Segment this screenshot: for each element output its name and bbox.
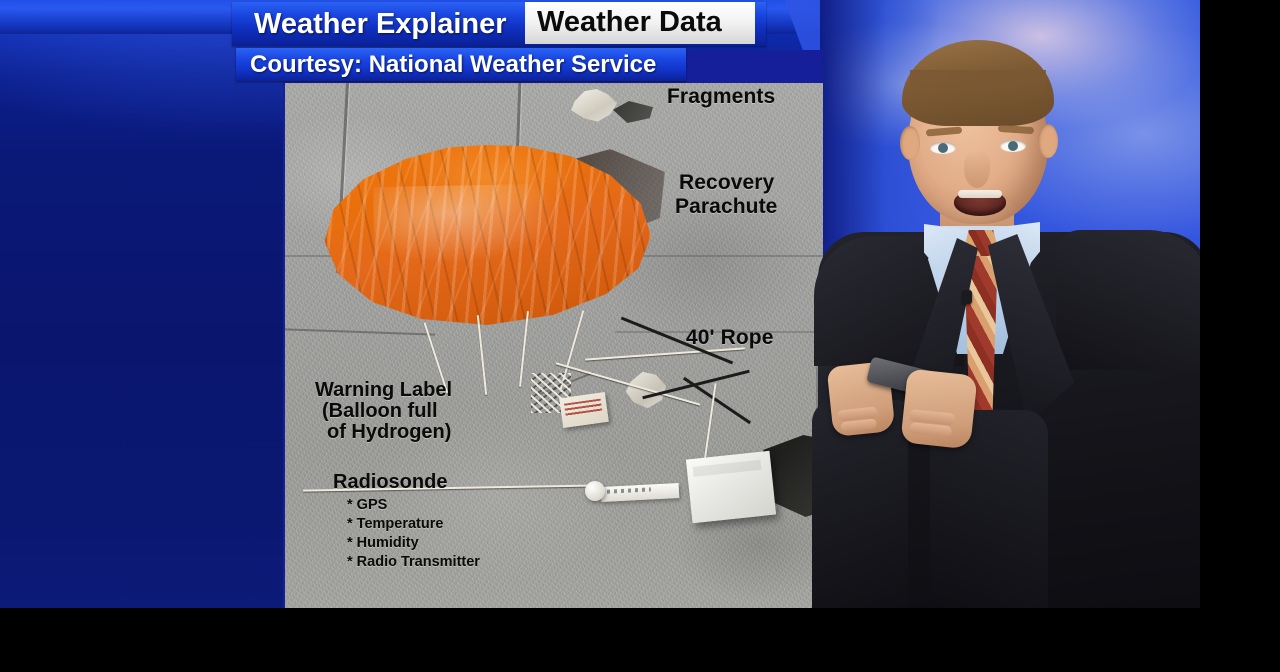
radiosonde-package xyxy=(686,451,776,523)
lapel-microphone-icon xyxy=(962,290,972,304)
segment-badge: Weather Data xyxy=(525,2,755,44)
label-radiosonde: Radiosonde xyxy=(333,472,447,493)
suit-shoulder-right xyxy=(1056,230,1212,370)
teeth xyxy=(958,190,1002,198)
radiosonde-feature-gps: * GPS xyxy=(347,498,387,513)
ear-left xyxy=(900,126,920,160)
courtesy-text: Courtesy: National Weather Service xyxy=(250,51,656,79)
pupil-right xyxy=(1008,141,1018,151)
radiosonde-feature-radio-transmitter: * Radio Transmitter xyxy=(347,555,480,570)
label-warning-line1: Warning Label xyxy=(315,380,452,401)
radiosonde-feature-humidity: * Humidity xyxy=(347,536,419,551)
label-warning-line3: of Hydrogen) xyxy=(327,422,451,443)
banner-title: Weather Explainer xyxy=(254,8,507,41)
label-warning-line2: (Balloon full xyxy=(322,401,438,422)
radiosonde-feature-temperature: * Temperature xyxy=(347,517,443,532)
pupil-left xyxy=(938,143,948,153)
nose xyxy=(964,150,990,188)
label-recovery-parachute-line2: Parachute xyxy=(675,196,777,218)
label-recovery-parachute-line1: Recovery xyxy=(679,172,774,194)
label-rope: 40' Rope xyxy=(686,327,774,349)
courtesy-bar: Courtesy: National Weather Service xyxy=(236,48,686,81)
radiosonde-sensor-bulb xyxy=(585,481,605,501)
letterbox-bottom xyxy=(0,608,1280,672)
warning-label-tag xyxy=(559,392,609,428)
segment-label: Weather Data xyxy=(537,6,722,39)
ear-right xyxy=(1038,124,1058,158)
nws-balloon-photo: Balloon Fragments Recovery Parachute 40'… xyxy=(285,83,823,608)
broadcast-screenshot: Balloon Fragments Recovery Parachute 40'… xyxy=(0,0,1280,672)
label-balloon-fragments-line2: Fragments xyxy=(667,86,775,108)
hand-right xyxy=(900,369,977,450)
meteorologist xyxy=(812,0,1212,608)
letterbox-right xyxy=(1200,0,1280,672)
parachute-highlight xyxy=(373,183,566,266)
hair xyxy=(902,40,1054,126)
